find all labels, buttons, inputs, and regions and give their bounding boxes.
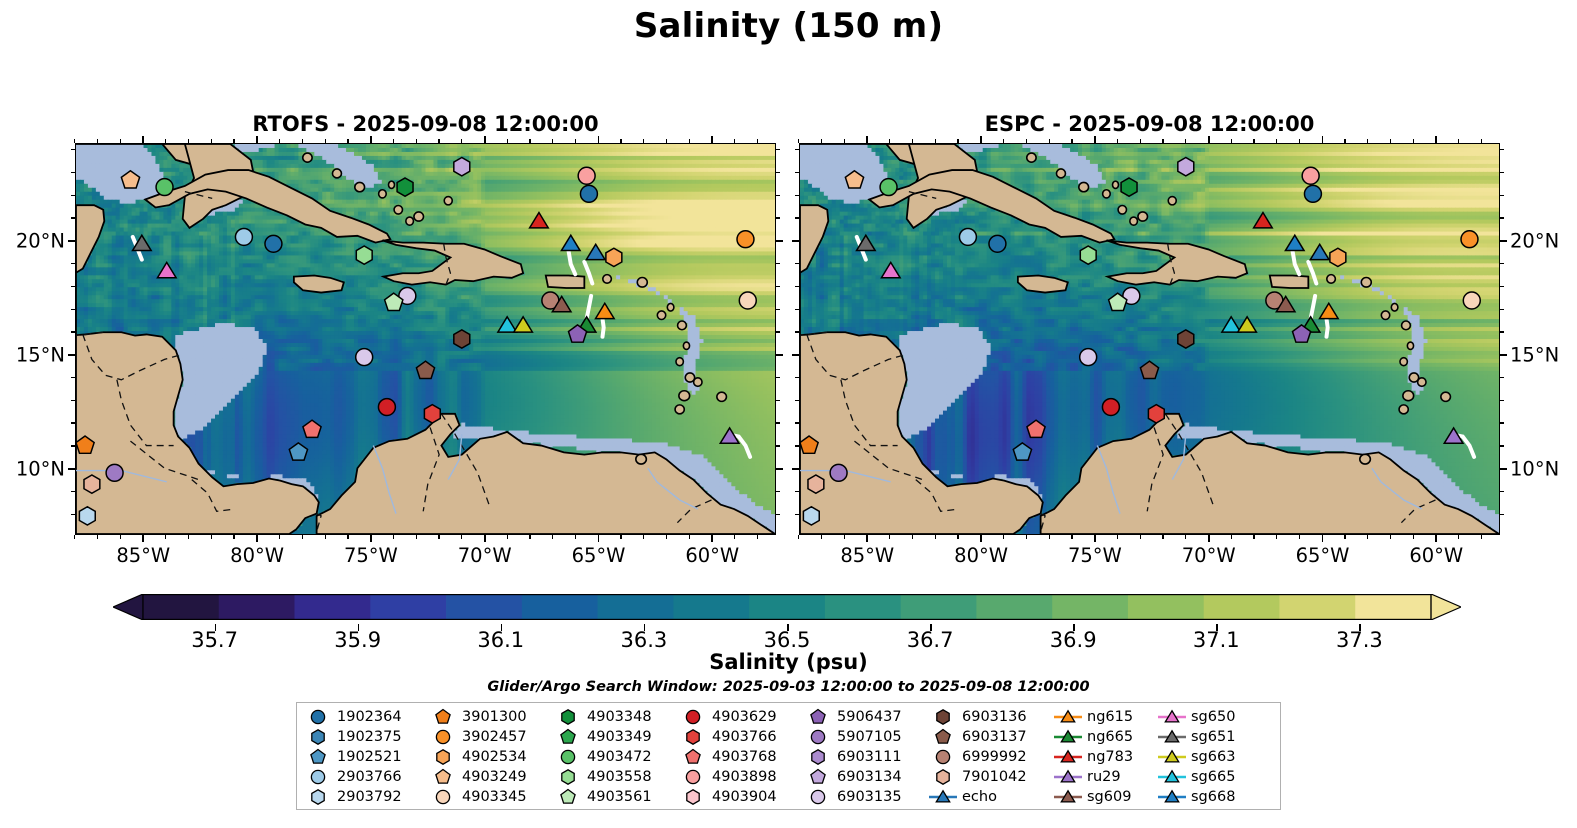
- legend-marker: [553, 787, 583, 807]
- x-tick: [1162, 535, 1163, 539]
- y-tick-left: [71, 422, 75, 423]
- x-tick-top: [620, 139, 621, 143]
- y-tick-right: [776, 195, 780, 196]
- x-tick: [620, 535, 621, 539]
- x-tick: [1117, 535, 1118, 539]
- legend-column: 39013003902457490253449032494903345: [428, 707, 553, 805]
- x-tick: [866, 535, 868, 542]
- glider-marker-icon: [1053, 707, 1083, 727]
- legend-marker: [1157, 727, 1187, 747]
- y-tick-right: [1500, 217, 1504, 218]
- legend-marker: [803, 747, 833, 767]
- legend-label: 4903249: [458, 769, 527, 785]
- pentagon-marker-icon: [928, 727, 958, 747]
- legend-item[interactable]: 1902364: [303, 707, 428, 727]
- legend-column: 6903136690313769999927901042echo: [928, 707, 1053, 805]
- legend-item[interactable]: 3902457: [428, 727, 553, 747]
- x-tick-top: [211, 139, 212, 143]
- legend-item[interactable]: ng783: [1053, 747, 1157, 767]
- colorbar-tick-label: 36.3: [621, 628, 668, 652]
- legend-item[interactable]: 5907105: [803, 727, 928, 747]
- legend-column: 19023641902375190252129037662903792: [303, 707, 428, 805]
- x-tick-top: [1413, 139, 1414, 143]
- x-tick: [529, 535, 530, 539]
- x-tick: [74, 535, 75, 539]
- x-tick-label: 70°W: [1182, 544, 1236, 567]
- y-tick-left: [795, 309, 799, 310]
- x-tick-top: [142, 136, 144, 143]
- x-tick: [120, 535, 121, 539]
- x-tick-top: [866, 136, 868, 143]
- y-tick-left: [71, 331, 75, 332]
- y-tick-left: [71, 195, 75, 196]
- x-tick-top: [302, 139, 303, 143]
- y-tick-right: [1500, 331, 1504, 332]
- legend-item[interactable]: 4903768: [678, 747, 803, 767]
- x-tick: [1390, 535, 1391, 539]
- y-tick-left: [795, 400, 799, 401]
- x-tick: [370, 535, 372, 542]
- legend-item[interactable]: 6903136: [928, 707, 1053, 727]
- y-tick-right: [1500, 491, 1504, 492]
- x-tick: [1185, 535, 1186, 539]
- pentagon-marker-icon: [803, 767, 833, 787]
- y-tick-right: [776, 263, 780, 264]
- y-tick-left: [71, 445, 75, 446]
- x-tick-top: [844, 139, 845, 143]
- search-window-text: Glider/Argo Search Window: 2025-09-03 12…: [0, 679, 1577, 695]
- legend-marker: [1157, 707, 1187, 727]
- x-tick: [1344, 535, 1345, 539]
- y-tick-left: [71, 377, 75, 378]
- legend-item[interactable]: 4903629: [678, 707, 803, 727]
- y-tick-right: [1500, 354, 1507, 356]
- legend-label: 7901042: [958, 769, 1027, 785]
- x-tick: [666, 535, 667, 539]
- legend-item[interactable]: 6903134: [803, 767, 928, 787]
- x-tick-top: [912, 139, 913, 143]
- y-tick-left: [795, 491, 799, 492]
- legend-label: 1902375: [333, 729, 402, 745]
- x-tick: [1413, 535, 1414, 539]
- x-tick-top: [980, 136, 982, 143]
- x-tick: [1003, 535, 1004, 539]
- colorbar-tick-label: 36.9: [1050, 628, 1097, 652]
- circle-marker-icon: [803, 787, 833, 807]
- legend-item[interactable]: 4903766: [678, 727, 803, 747]
- legend-label: 4903349: [583, 729, 652, 745]
- y-tick-right: [776, 422, 780, 423]
- hexagon-marker-icon: [678, 787, 708, 807]
- y-tick-label-right: 15°N: [1510, 344, 1559, 367]
- x-tick: [1094, 535, 1096, 542]
- y-tick-left: [795, 445, 799, 446]
- y-tick-right: [776, 172, 780, 173]
- legend-marker: [928, 767, 958, 787]
- x-tick: [142, 535, 144, 542]
- y-tick-right: [1500, 195, 1504, 196]
- x-tick: [1208, 535, 1210, 542]
- legend-item[interactable]: 4903345: [428, 787, 553, 807]
- legend-label: echo: [958, 789, 997, 805]
- glider-marker-icon: [1157, 787, 1187, 807]
- x-tick-label: 65°W: [1296, 544, 1350, 567]
- legend-marker: [803, 787, 833, 807]
- glider-marker-icon: [1053, 727, 1083, 747]
- legend-item[interactable]: 4903904: [678, 787, 803, 807]
- x-tick: [821, 535, 822, 539]
- colorbar-tick-label: 36.1: [477, 628, 524, 652]
- y-tick-right: [776, 286, 780, 287]
- x-tick: [233, 535, 234, 539]
- x-tick-top: [1481, 139, 1482, 143]
- legend-marker: [1157, 767, 1187, 787]
- x-tick-top: [120, 139, 121, 143]
- y-tick-right: [1500, 240, 1507, 242]
- legend-item[interactable]: 7901042: [928, 767, 1053, 787]
- x-tick: [507, 535, 508, 539]
- x-tick-top: [1435, 136, 1437, 143]
- x-tick-top: [1299, 139, 1300, 143]
- y-tick-left: [792, 240, 799, 242]
- x-tick-top: [598, 136, 600, 143]
- legend-marker: [1053, 727, 1083, 747]
- x-tick-top: [1162, 139, 1163, 143]
- y-tick-left: [68, 468, 75, 470]
- pentagon-marker-icon: [803, 707, 833, 727]
- legend-item[interactable]: 1902521: [303, 747, 428, 767]
- y-tick-right: [1500, 468, 1507, 470]
- y-tick-left: [71, 514, 75, 515]
- x-tick: [643, 535, 644, 539]
- legend-marker: [1157, 747, 1187, 767]
- x-tick-top: [1208, 136, 1210, 143]
- legend-marker: [803, 767, 833, 787]
- legend-label: 4903766: [708, 729, 777, 745]
- legend-marker: [303, 787, 333, 807]
- x-tick-top: [507, 139, 508, 143]
- legend-item[interactable]: 4903472: [553, 747, 678, 767]
- x-tick-top: [552, 139, 553, 143]
- x-tick-top: [1322, 136, 1324, 143]
- x-tick-top: [575, 139, 576, 143]
- colorbar[interactable]: [113, 594, 1461, 624]
- x-tick: [757, 535, 758, 539]
- x-tick-label: 75°W: [1068, 544, 1122, 567]
- legend-item[interactable]: sg663: [1157, 747, 1261, 767]
- glider-marker-icon: [1053, 747, 1083, 767]
- legend-label: 4903561: [583, 789, 652, 805]
- y-tick-left: [795, 514, 799, 515]
- legend-label: ng615: [1083, 709, 1133, 725]
- legend-item[interactable]: ru29: [1053, 767, 1157, 787]
- legend-marker: [803, 727, 833, 747]
- x-tick: [1276, 535, 1277, 539]
- y-tick-left: [795, 195, 799, 196]
- x-tick: [1322, 535, 1324, 542]
- y-tick-left: [71, 263, 75, 264]
- x-tick-top: [1185, 139, 1186, 143]
- x-tick: [889, 535, 890, 539]
- legend-label: sg609: [1083, 789, 1131, 805]
- x-tick-top: [1344, 139, 1345, 143]
- legend-label: 4903558: [583, 769, 652, 785]
- x-tick-label: 75°W: [344, 544, 398, 567]
- y-tick-right: [1500, 309, 1504, 310]
- x-tick-label: 80°W: [954, 544, 1008, 567]
- x-tick: [598, 535, 600, 542]
- x-tick-top: [256, 136, 258, 143]
- legend-item[interactable]: 1902375: [303, 727, 428, 747]
- map-panel-espc[interactable]: [799, 143, 1500, 535]
- x-tick-top: [1276, 139, 1277, 143]
- x-tick: [188, 535, 189, 539]
- y-tick-right: [776, 445, 780, 446]
- colorbar-tick-label: 36.5: [764, 628, 811, 652]
- legend-marker: [303, 747, 333, 767]
- legend-column: sg650sg651sg663sg665sg668: [1157, 707, 1261, 805]
- legend-marker: [303, 727, 333, 747]
- legend-label: 4903898: [708, 769, 777, 785]
- legend-column: ng615ng665ng783ru29sg609: [1053, 707, 1157, 805]
- x-tick: [552, 535, 553, 539]
- y-tick-right: [1500, 422, 1504, 423]
- y-tick-right: [1500, 149, 1504, 150]
- x-tick-label: 70°W: [458, 544, 512, 567]
- legend-marker: [678, 727, 708, 747]
- x-tick-top: [233, 139, 234, 143]
- legend-item[interactable]: 4903349: [553, 727, 678, 747]
- x-tick: [97, 535, 98, 539]
- hexagon-marker-icon: [678, 727, 708, 747]
- legend-item[interactable]: 6999992: [928, 747, 1053, 767]
- y-tick-right: [1500, 400, 1504, 401]
- legend-item[interactable]: 2903792: [303, 787, 428, 807]
- legend-marker: [928, 707, 958, 727]
- circle-marker-icon: [678, 767, 708, 787]
- y-tick-left: [792, 468, 799, 470]
- legend-item[interactable]: 6903111: [803, 747, 928, 767]
- y-tick-left: [795, 263, 799, 264]
- x-tick-top: [279, 139, 280, 143]
- y-tick-right: [776, 149, 780, 150]
- y-tick-right: [1500, 172, 1504, 173]
- circle-marker-icon: [428, 727, 458, 747]
- x-tick-top: [821, 139, 822, 143]
- legend-marker: [553, 707, 583, 727]
- legend-label: 6999992: [958, 749, 1027, 765]
- x-tick: [1049, 535, 1050, 539]
- x-tick-top: [97, 139, 98, 143]
- x-tick: [438, 535, 439, 539]
- y-tick-right: [1500, 445, 1504, 446]
- glider-marker-icon: [1157, 767, 1187, 787]
- x-tick: [1367, 535, 1368, 539]
- circle-marker-icon: [553, 747, 583, 767]
- legend-item[interactable]: sg651: [1157, 727, 1261, 747]
- glider-marker-icon: [1053, 767, 1083, 787]
- legend-item[interactable]: sg668: [1157, 787, 1261, 807]
- x-tick: [711, 535, 713, 542]
- legend[interactable]: 1902364190237519025212903766290379239013…: [296, 702, 1281, 810]
- y-tick-left: [71, 286, 75, 287]
- x-tick-top: [1117, 139, 1118, 143]
- legend-column: 49033484903349490347249035584903561: [553, 707, 678, 805]
- panel-title-rtofs: RTOFS - 2025-09-08 12:00:00: [75, 112, 776, 136]
- x-tick-top: [370, 136, 372, 143]
- x-tick: [1026, 535, 1027, 539]
- hexagon-marker-icon: [303, 727, 333, 747]
- legend-column: 49036294903766490376849038984903904: [678, 707, 803, 805]
- x-tick: [798, 535, 799, 539]
- legend-marker: [428, 787, 458, 807]
- x-tick-top: [689, 139, 690, 143]
- legend-label: 2903792: [333, 789, 402, 805]
- y-tick-label-left: 15°N: [16, 344, 65, 367]
- y-tick-left: [68, 354, 75, 356]
- x-tick: [1435, 535, 1437, 542]
- hexagon-marker-icon: [928, 767, 958, 787]
- legend-item[interactable]: sg650: [1157, 707, 1261, 727]
- legend-item[interactable]: sg609: [1053, 787, 1157, 807]
- x-tick-label: 85°W: [840, 544, 894, 567]
- colorbar-tick-label: 36.7: [907, 628, 954, 652]
- x-tick-top: [1253, 139, 1254, 143]
- circle-marker-icon: [928, 747, 958, 767]
- x-tick: [302, 535, 303, 539]
- x-tick-top: [734, 139, 735, 143]
- legend-item[interactable]: 4903249: [428, 767, 553, 787]
- x-tick-top: [1003, 139, 1004, 143]
- x-tick-label: 85°W: [116, 544, 170, 567]
- x-tick-top: [347, 139, 348, 143]
- x-tick: [347, 535, 348, 539]
- legend-label: 1902364: [333, 709, 402, 725]
- x-tick: [1299, 535, 1300, 539]
- legend-label: sg668: [1187, 789, 1235, 805]
- legend-item[interactable]: 4903348: [553, 707, 678, 727]
- x-tick-top: [165, 139, 166, 143]
- legend-item[interactable]: 6903137: [928, 727, 1053, 747]
- hexagon-marker-icon: [428, 747, 458, 767]
- y-tick-left: [71, 217, 75, 218]
- y-tick-left: [795, 217, 799, 218]
- legend-column: 59064375907105690311169031346903135: [803, 707, 928, 805]
- map-panel-rtofs[interactable]: [75, 143, 776, 535]
- hexagon-marker-icon: [553, 707, 583, 727]
- x-tick-top: [416, 139, 417, 143]
- legend-marker: [678, 767, 708, 787]
- circle-marker-icon: [678, 707, 708, 727]
- y-tick-left: [71, 400, 75, 401]
- legend-item[interactable]: 4903558: [553, 767, 678, 787]
- legend-marker: [428, 707, 458, 727]
- legend-item[interactable]: 2903766: [303, 767, 428, 787]
- x-tick-top: [711, 136, 713, 143]
- y-tick-left: [795, 377, 799, 378]
- x-tick: [957, 535, 958, 539]
- hexagon-marker-icon: [303, 787, 333, 807]
- y-tick-right: [1500, 377, 1504, 378]
- x-tick-top: [325, 139, 326, 143]
- y-tick-left: [795, 422, 799, 423]
- legend-item[interactable]: 4903561: [553, 787, 678, 807]
- x-tick-label: 65°W: [572, 544, 626, 567]
- y-tick-right: [1500, 263, 1504, 264]
- panel-title-espc: ESPC - 2025-09-08 12:00:00: [799, 112, 1500, 136]
- legend-marker: [303, 707, 333, 727]
- x-tick-top: [484, 136, 486, 143]
- legend-marker: [928, 787, 958, 807]
- legend-marker: [928, 727, 958, 747]
- legend-item[interactable]: 4903898: [678, 767, 803, 787]
- x-tick: [734, 535, 735, 539]
- y-tick-right: [1500, 514, 1504, 515]
- x-tick: [689, 535, 690, 539]
- colorbar-tick-label: 35.9: [334, 628, 381, 652]
- legend-item[interactable]: ng615: [1053, 707, 1157, 727]
- legend-marker: [303, 767, 333, 787]
- hexagon-marker-icon: [803, 747, 833, 767]
- x-tick: [279, 535, 280, 539]
- hexagon-marker-icon: [928, 707, 958, 727]
- y-tick-left: [71, 172, 75, 173]
- legend-item[interactable]: sg665: [1157, 767, 1261, 787]
- legend-item[interactable]: echo: [928, 787, 1053, 807]
- x-tick: [1071, 535, 1072, 539]
- legend-marker: [428, 747, 458, 767]
- x-tick: [416, 535, 417, 539]
- legend-marker: [678, 787, 708, 807]
- y-tick-left: [71, 491, 75, 492]
- y-tick-right: [776, 217, 780, 218]
- pentagon-marker-icon: [428, 707, 458, 727]
- legend-marker: [553, 767, 583, 787]
- y-tick-right: [776, 240, 783, 242]
- legend-marker: [678, 707, 708, 727]
- x-tick: [912, 535, 913, 539]
- x-tick-top: [461, 139, 462, 143]
- y-tick-left: [71, 149, 75, 150]
- legend-item[interactable]: ng665: [1053, 727, 1157, 747]
- legend-item[interactable]: 3901300: [428, 707, 553, 727]
- x-tick-top: [1071, 139, 1072, 143]
- y-tick-left: [795, 286, 799, 287]
- y-tick-right: [776, 354, 783, 356]
- legend-label: 4903345: [458, 789, 527, 805]
- x-tick-top: [438, 139, 439, 143]
- glider-marker-icon: [928, 787, 958, 807]
- legend-label: sg651: [1187, 729, 1235, 745]
- legend-marker: [1053, 767, 1083, 787]
- y-tick-right: [776, 309, 780, 310]
- x-tick-top: [1390, 139, 1391, 143]
- legend-label: 6903135: [833, 789, 902, 805]
- y-tick-right: [776, 491, 780, 492]
- x-tick-top: [1458, 139, 1459, 143]
- x-tick: [1481, 535, 1482, 539]
- y-tick-right: [776, 468, 783, 470]
- x-tick-top: [1140, 139, 1141, 143]
- legend-item[interactable]: 5906437: [803, 707, 928, 727]
- colorbar-tick-label: 37.1: [1193, 628, 1240, 652]
- glider-marker-icon: [1157, 707, 1187, 727]
- x-tick: [1253, 535, 1254, 539]
- legend-item[interactable]: 6903135: [803, 787, 928, 807]
- legend-item[interactable]: 4902534: [428, 747, 553, 767]
- y-tick-left: [795, 172, 799, 173]
- x-tick: [211, 535, 212, 539]
